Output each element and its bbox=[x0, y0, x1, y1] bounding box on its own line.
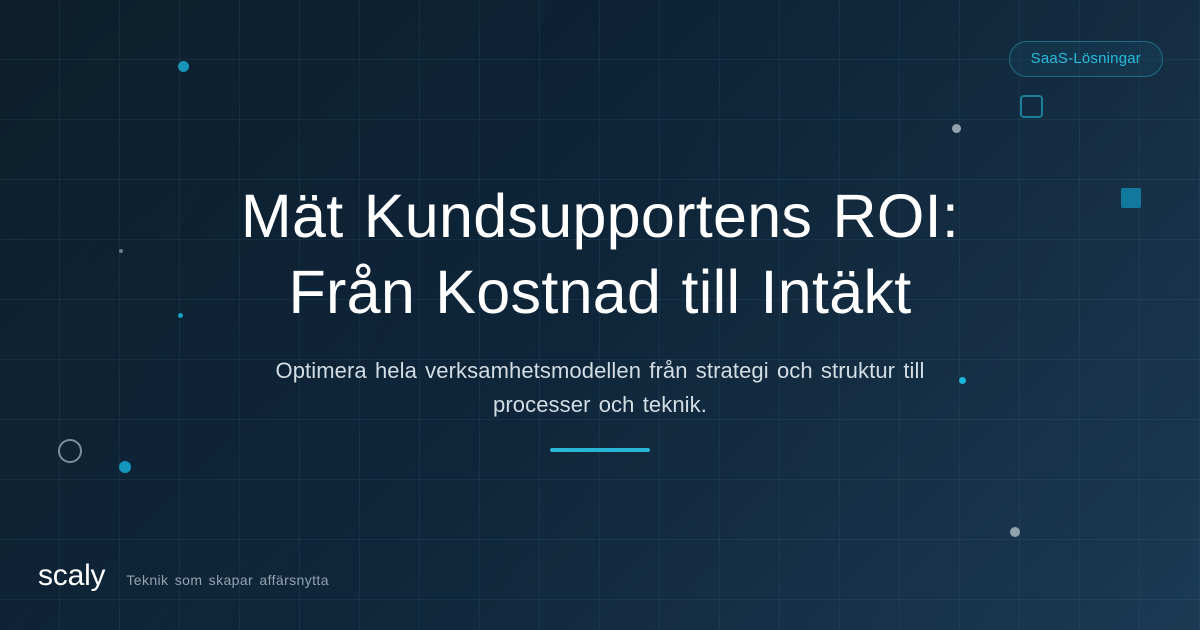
gray-dot-upper-right-icon bbox=[952, 124, 961, 133]
cyan-dot-lower-left-icon bbox=[119, 461, 131, 473]
hero-content: Mät Kundsupportens ROI: Från Kostnad til… bbox=[0, 178, 1200, 452]
page-title-line-2: Från Kostnad till Intäkt bbox=[288, 258, 911, 326]
page-subtitle-line-1: Optimera hela verksamhetsmodellen från s… bbox=[275, 358, 895, 383]
cyan-dot-top-left-icon bbox=[178, 61, 189, 72]
social-card-canvas: SaaS-Lösningar Mät Kundsupportens ROI: F… bbox=[0, 0, 1200, 630]
page-subtitle: Optimera hela verksamhetsmodellen från s… bbox=[240, 354, 960, 422]
page-title-line-1: Mät Kundsupportens ROI: bbox=[241, 182, 959, 250]
footer-brand: scaly Teknik som skapar affärsnytta bbox=[38, 561, 329, 591]
gray-dot-lower-right-icon bbox=[1010, 527, 1020, 537]
category-badge[interactable]: SaaS-Lösningar bbox=[1009, 41, 1163, 77]
square-outline-top-right-icon bbox=[1020, 95, 1043, 118]
brand-logo: scaly bbox=[38, 561, 105, 591]
page-title: Mät Kundsupportens ROI: Från Kostnad til… bbox=[110, 178, 1090, 330]
brand-tagline: Teknik som skapar affärsnytta bbox=[126, 573, 329, 587]
accent-divider bbox=[550, 448, 650, 452]
